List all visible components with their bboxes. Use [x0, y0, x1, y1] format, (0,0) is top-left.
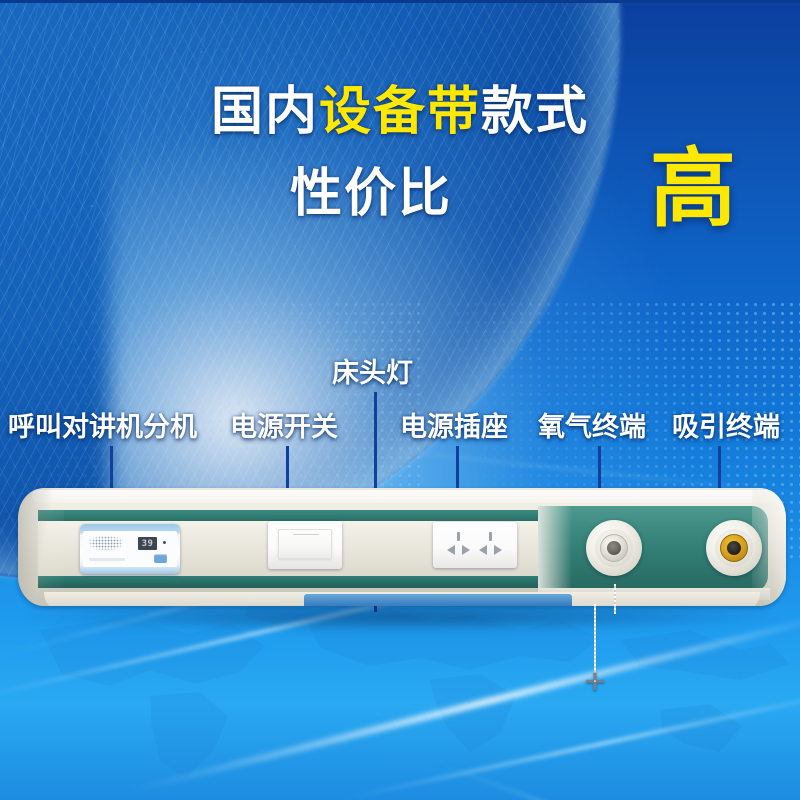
socket-slot-right — [462, 545, 470, 555]
socket-slot-vertical — [489, 532, 492, 541]
pull-cord-short[interactable] — [614, 584, 616, 614]
oxygen-terminal[interactable] — [586, 520, 642, 576]
panel-stripe-top — [38, 510, 554, 521]
intercom-call-button[interactable] — [154, 554, 167, 563]
power-socket[interactable] — [433, 522, 517, 568]
socket-outlet-right[interactable] — [477, 532, 505, 558]
suction-port-core — [727, 541, 741, 555]
oxygen-port-core — [607, 541, 621, 555]
panel-top-bevel — [32, 490, 776, 503]
suction-terminal[interactable] — [706, 520, 762, 576]
intercom-display: 39 — [138, 537, 157, 550]
panel-blue-channel — [304, 594, 572, 606]
panel-body: 39 — [18, 488, 786, 606]
panel-drop-shadow — [24, 606, 780, 632]
pull-cord-pendant-icon[interactable]: ✛ — [584, 672, 606, 694]
highlight-overlay — [0, 0, 800, 800]
bed-head-unit-panel: 39 — [18, 488, 786, 638]
socket-outlet-left[interactable] — [445, 532, 473, 558]
call-intercom-extension[interactable]: 39 — [80, 524, 180, 574]
status-dot-icon — [163, 541, 166, 544]
promo-banner: 国内设备带款式 性价比 高 呼叫对讲机分机 电源开关 床头灯 电源插座 氧气终端… — [0, 0, 800, 800]
socket-slot-vertical — [457, 532, 460, 541]
socket-slot-left — [479, 545, 487, 555]
panel-stripe-bottom — [38, 576, 554, 588]
socket-slot-right — [494, 545, 502, 555]
power-switch[interactable] — [268, 521, 342, 569]
socket-slot-left — [447, 545, 455, 555]
speaker-grille-icon — [89, 536, 123, 550]
panel-end-cap-left — [18, 488, 64, 606]
intercom-mic-slot — [89, 558, 125, 561]
switch-rocker[interactable] — [278, 529, 332, 559]
